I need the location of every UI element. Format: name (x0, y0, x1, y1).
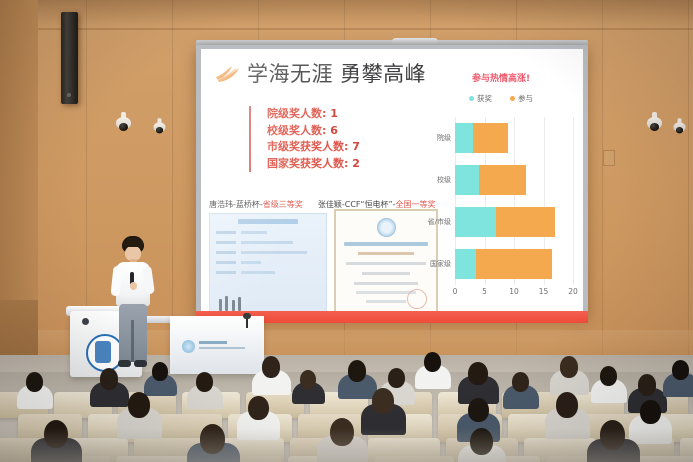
audience-member-head (556, 392, 578, 418)
university-logo-icon (182, 340, 195, 353)
audience-member-head (424, 352, 441, 372)
audience-member-head (672, 360, 689, 380)
stat-value: 6 (330, 124, 338, 137)
chart-bar-segment (455, 123, 473, 153)
chart-category-label: 校级 (437, 175, 451, 185)
audience-member-head (26, 372, 43, 392)
stat-value: 7 (352, 140, 360, 153)
audience-member-head (100, 368, 118, 390)
audience-member-head (470, 428, 493, 455)
stat-label: 国家奖获奖人数: (267, 157, 348, 170)
audience-member-head (248, 396, 269, 420)
chart-bar-row: 国家级 (455, 249, 573, 279)
ceiling-shadow (0, 0, 693, 26)
table-mic-icon (243, 313, 251, 319)
chart-x-tick-label: 0 (453, 287, 458, 296)
projection-screen: 学海无涯 勇攀高峰 院级奖人数: 1 校级奖人数: 6 市级奖获奖人数: 7 国… (196, 45, 588, 317)
application-form-thumbnail (209, 213, 327, 311)
audience-member-head (330, 418, 354, 446)
legend-label: 获奖 (477, 93, 492, 104)
stat-label: 院级奖人数: (267, 107, 326, 120)
audience-member-head (152, 362, 168, 381)
chart-bars: 院级校级省/市级国家级 (455, 117, 573, 285)
screen-roller (392, 38, 438, 45)
signature-mark (219, 295, 243, 311)
participation-chart: 参与热情高涨! 获奖 参与 (425, 69, 577, 307)
wall-plate (603, 150, 615, 166)
stat-line: 校级奖人数: 6 (267, 123, 360, 140)
legend-item-participate: 参与 (510, 93, 533, 104)
chart-bar-segment (455, 165, 479, 195)
table-logo-text (199, 341, 227, 344)
auditorium-seat (632, 456, 693, 462)
legend-label: 参与 (518, 93, 533, 104)
chart-bar-row: 院级 (455, 123, 573, 153)
dome-camera-icon (674, 118, 686, 136)
stat-line: 市级奖获奖人数: 7 (267, 139, 360, 156)
auditorium-seat (374, 456, 454, 462)
chart-x-axis: 05101520 (455, 287, 573, 301)
chart-x-tick-label: 10 (509, 287, 519, 296)
dome-camera-icon (647, 112, 662, 134)
dome-camera-icon (116, 112, 131, 134)
chart-bar-segment (496, 207, 555, 237)
audience-member-head (468, 362, 488, 385)
podium-knob (82, 318, 89, 325)
chart-legend: 获奖 参与 (425, 93, 577, 104)
table-logo-subtext (199, 347, 245, 349)
chart-plot-area: 院级校级省/市级国家级 (455, 117, 573, 285)
award-stats-list: 院级奖人数: 1 校级奖人数: 6 市级奖获奖人数: 7 国家奖获奖人数: 2 (249, 106, 360, 172)
dome-camera-icon (154, 118, 166, 136)
audience-member-head (600, 366, 617, 386)
chart-category-label: 国家级 (430, 259, 451, 269)
chart-category-label: 院级 (437, 133, 451, 143)
audience-member-head (560, 356, 578, 378)
audience-member-head (348, 360, 366, 382)
chart-category-label: 省/市级 (428, 217, 451, 227)
audience-member-head (200, 424, 225, 454)
audience-member-head (512, 372, 529, 392)
auditorium-seat (116, 456, 196, 462)
audience-member-head (640, 400, 661, 424)
lecture-hall-photo: 学海无涯 勇攀高峰 院级奖人数: 1 校级奖人数: 6 市级奖获奖人数: 7 国… (0, 0, 693, 462)
stat-value: 2 (352, 157, 360, 170)
legend-item-award: 获奖 (469, 93, 492, 104)
audience-member-head (388, 368, 405, 388)
caption-award1-name: 唐浩玮-蓝桥杯- (209, 200, 263, 209)
audience-member-head (128, 392, 150, 418)
caption-award2-name: 张佳颖-CCF“恒电杯”- (318, 200, 396, 209)
caption-award1-level: 省级三等奖 (263, 200, 303, 209)
audience-member-head (44, 420, 68, 448)
chart-bar-row: 校级 (455, 165, 573, 195)
bird-icon (215, 64, 241, 84)
chart-bar-row: 省/市级 (455, 207, 573, 237)
chart-bar-segment (455, 207, 496, 237)
presenter (110, 236, 156, 378)
wall-seam (0, 28, 693, 30)
stat-label: 校级奖人数: (267, 124, 326, 137)
chart-bar-segment (476, 249, 553, 279)
chart-title: 参与热情高涨! (425, 71, 577, 84)
certificate-thumbnail (334, 209, 438, 311)
table-mic-stand (246, 318, 248, 328)
audience-member-head (262, 356, 280, 378)
chart-x-tick-label: 20 (568, 287, 578, 296)
audience-member-head (372, 388, 394, 414)
slide-canvas: 学海无涯 勇攀高峰 院级奖人数: 1 校级奖人数: 6 市级奖获奖人数: 7 国… (201, 49, 583, 311)
stat-line: 院级奖人数: 1 (267, 106, 360, 123)
audience-member-head (196, 372, 213, 392)
certificate-seal-icon (377, 218, 396, 237)
slide-title: 学海无涯 勇攀高峰 (247, 63, 426, 85)
certificate-stamp-icon (407, 289, 427, 309)
chart-bar-segment (455, 249, 476, 279)
audience-member-head (638, 374, 656, 396)
audience-member-head (468, 398, 489, 422)
chart-bar-segment (479, 165, 526, 195)
slide-title-row: 学海无涯 勇攀高峰 (215, 63, 426, 85)
chart-bar-segment (473, 123, 508, 153)
wall-speaker-icon (61, 12, 78, 104)
chart-x-tick-label: 15 (539, 287, 549, 296)
audience-member-head (600, 420, 625, 450)
stat-line: 国家奖获奖人数: 2 (267, 156, 360, 173)
chart-x-tick-label: 5 (482, 287, 487, 296)
stat-label: 市级奖获奖人数: (267, 140, 348, 153)
audience-member-head (300, 370, 316, 389)
stat-value: 1 (330, 107, 338, 120)
